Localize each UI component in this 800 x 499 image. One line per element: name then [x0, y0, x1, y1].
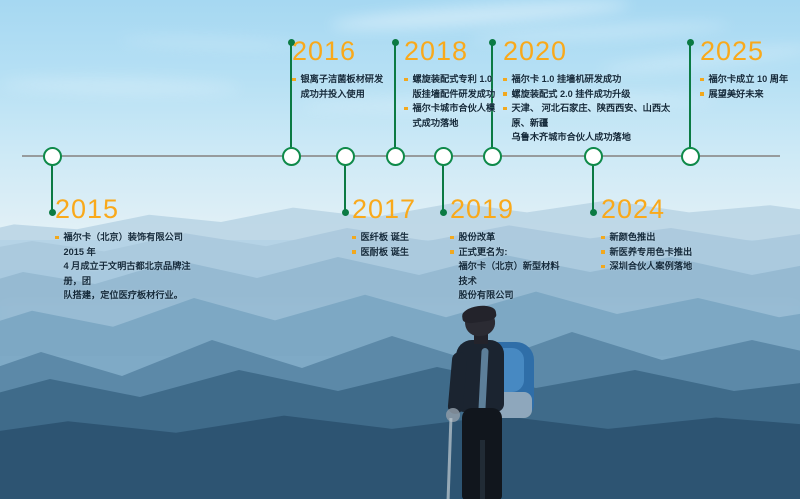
- timeline-node-2025[interactable]: [681, 147, 700, 166]
- milestone-bullet-text: 医耐板 诞生: [361, 245, 453, 260]
- milestone-year-label: 2020: [503, 38, 683, 65]
- bullet-marker-icon: [700, 92, 704, 96]
- milestone-2015[interactable]: 2015福尔卡（北京）装饰有限公司 2015 年4 月成立于文明古都北京品牌注册…: [55, 196, 203, 303]
- bullet-marker-icon: [450, 250, 454, 254]
- timeline-infographic: 2015福尔卡（北京）装饰有限公司 2015 年4 月成立于文明古都北京品牌注册…: [0, 0, 800, 499]
- bullet-marker-icon: [450, 236, 454, 240]
- bullet-marker-icon: [503, 78, 507, 82]
- milestone-bullet-text: 新医养专用色卡推出: [610, 245, 732, 260]
- milestone-bullet-text: 螺旋装配式 2.0 挂件成功升级: [512, 87, 684, 102]
- milestone-bullet: 螺旋装配式专利 1.0: [404, 72, 510, 87]
- bullet-marker-icon: [601, 265, 605, 269]
- bullet-marker-icon: [352, 236, 356, 240]
- bullet-marker-icon: [292, 78, 296, 82]
- milestone-details: 新颜色推出新医养专用色卡推出深圳合伙人案例落地: [601, 230, 731, 274]
- milestone-bullet-text: 新颜色推出: [610, 230, 732, 245]
- hiker-figure: [432, 308, 562, 499]
- milestone-stem-tip: [342, 209, 349, 216]
- timeline-node-2018[interactable]: [386, 147, 405, 166]
- milestone-bullet-text: 正式更名为:: [459, 245, 561, 260]
- milestone-stem-tip: [687, 39, 694, 46]
- milestone-bullet: 正式更名为:: [450, 245, 560, 260]
- timeline-node-2016[interactable]: [282, 147, 301, 166]
- timeline-node-2019[interactable]: [434, 147, 453, 166]
- milestone-bullet-text: 股份改革: [459, 230, 561, 245]
- hiker-leg-split: [480, 440, 485, 499]
- milestone-bullet-text: 福尔卡成立 10 周年: [709, 72, 800, 87]
- milestone-bullet-text: 展望美好未来: [709, 87, 800, 102]
- milestone-2025[interactable]: 2025福尔卡成立 10 周年展望美好未来: [700, 38, 800, 101]
- milestone-bullet-text: 银离子洁菌板材研发: [301, 72, 397, 87]
- milestone-bullet: 福尔卡 1.0 挂墙机研发成功: [503, 72, 683, 87]
- milestone-bullet: 股份改革: [450, 230, 560, 245]
- bullet-marker-icon: [503, 107, 507, 111]
- milestone-2019[interactable]: 2019股份改革正式更名为:福尔卡（北京）新型材料技术股份有限公司: [450, 196, 560, 303]
- milestone-year-label: 2024: [601, 196, 731, 223]
- timeline-node-2020[interactable]: [483, 147, 502, 166]
- milestone-year-label: 2015: [55, 196, 203, 223]
- milestone-details: 银离子洁菌板材研发成功并投入使用: [292, 72, 396, 101]
- timeline-node-2024[interactable]: [584, 147, 603, 166]
- bullet-marker-icon: [601, 250, 605, 254]
- milestone-2017[interactable]: 2017医纤板 诞生医耐板 诞生: [352, 196, 452, 259]
- milestone-bullet: 天津、 河北石家庄、陕西西安、山西太原、新疆: [503, 101, 683, 130]
- milestone-bullet: 银离子洁菌板材研发: [292, 72, 396, 87]
- bullet-marker-icon: [55, 236, 59, 240]
- milestone-bullet: 福尔卡城市合伙人模: [404, 101, 510, 116]
- milestone-bullet-continuation: 成功并投入使用: [292, 87, 396, 102]
- milestone-stem: [689, 42, 692, 155]
- milestone-bullet-text: 螺旋装配式专利 1.0: [413, 72, 511, 87]
- milestone-2024[interactable]: 2024新颜色推出新医养专用色卡推出深圳合伙人案例落地: [601, 196, 731, 274]
- milestone-bullet: 医耐板 诞生: [352, 245, 452, 260]
- milestone-bullet: 医纤板 诞生: [352, 230, 452, 245]
- milestone-bullet-text: 医纤板 诞生: [361, 230, 453, 245]
- milestone-details: 股份改革正式更名为:福尔卡（北京）新型材料技术股份有限公司: [450, 230, 560, 303]
- bullet-marker-icon: [503, 92, 507, 96]
- milestone-bullet-continuation: 队搭建，定位医疗板材行业。: [55, 288, 203, 303]
- milestone-2018[interactable]: 2018螺旋装配式专利 1.0版挂墙配件研发成功福尔卡城市合伙人模式成功落地: [404, 38, 510, 130]
- milestone-details: 螺旋装配式专利 1.0版挂墙配件研发成功福尔卡城市合伙人模式成功落地: [404, 72, 510, 130]
- milestone-year-label: 2018: [404, 38, 510, 65]
- milestone-bullet: 展望美好未来: [700, 87, 800, 102]
- hiker-hand: [446, 408, 460, 422]
- milestone-2020[interactable]: 2020福尔卡 1.0 挂墙机研发成功螺旋装配式 2.0 挂件成功升级天津、 河…: [503, 38, 683, 145]
- bullet-marker-icon: [404, 78, 408, 82]
- timeline-node-2015[interactable]: [43, 147, 62, 166]
- milestone-2016[interactable]: 2016银离子洁菌板材研发成功并投入使用: [292, 38, 396, 101]
- bullet-marker-icon: [352, 250, 356, 254]
- milestone-stem-tip: [590, 209, 597, 216]
- trekking-pole: [447, 418, 453, 499]
- milestone-bullet: 新医养专用色卡推出: [601, 245, 731, 260]
- milestone-details: 医纤板 诞生医耐板 诞生: [352, 230, 452, 259]
- milestone-year-label: 2025: [700, 38, 800, 65]
- milestone-details: 福尔卡成立 10 周年展望美好未来: [700, 72, 800, 101]
- milestone-bullet-text: 福尔卡城市合伙人模: [413, 101, 511, 116]
- milestone-bullet: 螺旋装配式 2.0 挂件成功升级: [503, 87, 683, 102]
- bullet-marker-icon: [404, 107, 408, 111]
- milestone-bullet-continuation: 股份有限公司: [450, 288, 560, 303]
- bullet-marker-icon: [601, 236, 605, 240]
- milestone-year-label: 2019: [450, 196, 560, 223]
- milestone-year-label: 2016: [292, 38, 396, 65]
- milestone-details: 福尔卡（北京）装饰有限公司 2015 年4 月成立于文明古都北京品牌注册，团队搭…: [55, 230, 203, 303]
- milestone-bullet: 新颜色推出: [601, 230, 731, 245]
- milestone-year-label: 2017: [352, 196, 452, 223]
- milestone-bullet: 深圳合伙人案例落地: [601, 259, 731, 274]
- milestone-bullet-continuation: 4 月成立于文明古都北京品牌注册，团: [55, 259, 203, 288]
- milestone-bullet-continuation: 福尔卡（北京）新型材料技术: [450, 259, 560, 288]
- bullet-marker-icon: [700, 78, 704, 82]
- milestone-bullet-text: 福尔卡 1.0 挂墙机研发成功: [512, 72, 684, 87]
- milestone-bullet-text: 天津、 河北石家庄、陕西西安、山西太原、新疆: [512, 101, 684, 130]
- milestone-bullet-text: 福尔卡（北京）装饰有限公司 2015 年: [64, 230, 204, 259]
- milestone-bullet: 福尔卡（北京）装饰有限公司 2015 年: [55, 230, 203, 259]
- milestone-bullet-text: 深圳合伙人案例落地: [610, 259, 732, 274]
- milestone-bullet-continuation: 版挂墙配件研发成功: [404, 87, 510, 102]
- milestone-bullet-continuation: 式成功落地: [404, 116, 510, 131]
- milestone-bullet: 福尔卡成立 10 周年: [700, 72, 800, 87]
- milestone-details: 福尔卡 1.0 挂墙机研发成功螺旋装配式 2.0 挂件成功升级天津、 河北石家庄…: [503, 72, 683, 145]
- milestone-bullet-continuation: 乌鲁木齐城市合伙人成功落地: [503, 130, 683, 145]
- timeline-node-2017[interactable]: [336, 147, 355, 166]
